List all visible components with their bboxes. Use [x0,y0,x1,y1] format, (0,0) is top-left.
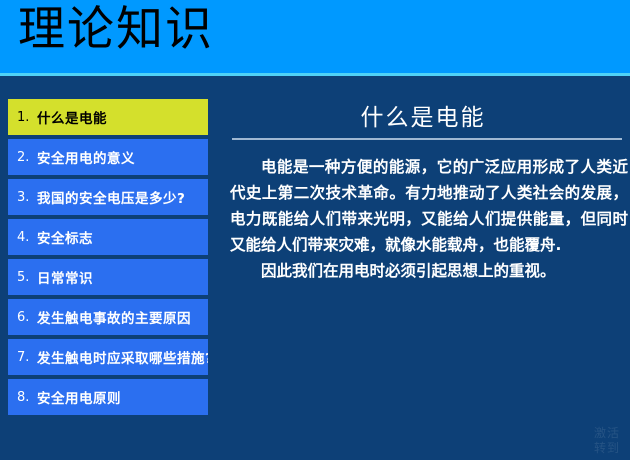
sidebar-item-7-label: 发生触电时应采取哪些措施? [37,347,208,367]
sidebar-item-4-number: 4. [17,230,37,245]
sidebar-item-4[interactable]: 4. 安全标志 [8,219,208,255]
sidebar-item-5-label: 日常常识 [37,267,93,287]
sidebar-item-3-label: 我国的安全电压是多少? [37,187,185,207]
content-paragraph-1: 电能是一种方便的能源，它的广泛应用形成了人类近代史上第二次技术革命。有力地推动了… [230,154,628,258]
sidebar-item-1-number: 1. [17,110,37,125]
sidebar-item-2-number: 2. [17,150,37,165]
sidebar-item-8[interactable]: 8. 安全用电原则 [8,379,208,415]
sidebar-item-1[interactable]: 1. 什么是电能 [8,99,208,135]
sidebar-item-5-number: 5. [17,270,37,285]
sidebar-item-3[interactable]: 3. 我国的安全电压是多少? [8,179,208,215]
content-body: 电能是一种方便的能源，它的广泛应用形成了人类近代史上第二次技术革命。有力地推动了… [230,154,628,284]
content-divider [232,138,622,140]
sidebar-menu: 1. 什么是电能 2. 安全用电的意义 3. 我国的安全电压是多少? 4. 安全… [0,76,216,460]
sidebar-item-2[interactable]: 2. 安全用电的意义 [8,139,208,175]
sidebar-item-1-label: 什么是电能 [37,107,107,127]
sidebar-item-6[interactable]: 6. 发生触电事故的主要原因 [8,299,208,335]
sidebar-item-7-number: 7. [17,350,37,365]
presentation-slide: 理论知识 1. 什么是电能 2. 安全用电的意义 3. 我国的安全电压是多少? … [0,0,630,460]
sidebar-item-8-label: 安全用电原则 [37,387,121,407]
sidebar-item-3-number: 3. [17,190,37,205]
content-panel: 什么是电能 电能是一种方便的能源，它的广泛应用形成了人类近代史上第二次技术革命。… [216,76,630,460]
content-title: 什么是电能 [216,98,630,132]
sidebar-item-4-label: 安全标志 [37,227,93,247]
sidebar-item-6-number: 6. [17,310,37,325]
sidebar-item-8-number: 8. [17,390,37,405]
menu-list: 1. 什么是电能 2. 安全用电的意义 3. 我国的安全电压是多少? 4. 安全… [8,99,208,419]
sidebar-item-2-label: 安全用电的意义 [37,147,135,167]
sidebar-item-5[interactable]: 5. 日常常识 [8,259,208,295]
page-title: 理论知识 [18,0,214,62]
sidebar-item-7[interactable]: 7. 发生触电时应采取哪些措施? [8,339,208,375]
sidebar-item-6-label: 发生触电事故的主要原因 [37,307,191,327]
slide-header: 理论知识 [0,0,630,73]
content-paragraph-2: 因此我们在用电时必须引起思想上的重视。 [230,258,628,284]
